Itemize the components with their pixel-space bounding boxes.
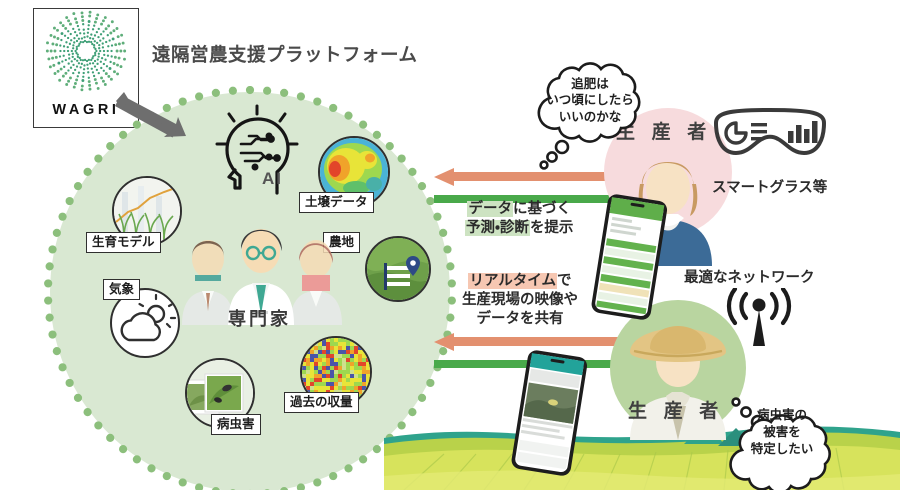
ai-head-icon: AI [205, 100, 309, 208]
thought-b-line3: 特定したい [733, 441, 831, 458]
flow-caption-to-farmer: データに基づく 予測・診断を提示 [465, 200, 573, 238]
thought-a-line2: いつ頃にしたら [537, 92, 643, 108]
caption-tail-1: に基づく [513, 201, 571, 217]
flow-caption-to-platform: リアルタイムで 生産現場の映像や データを共有 [462, 272, 578, 329]
node-growth-model-label: 生育モデル [86, 232, 161, 253]
flow-caption-to-farmer-line2: 予測・診断を提示 [465, 219, 573, 238]
field-map-pin-icon [365, 236, 431, 302]
thought-a-line3: いいのかな [537, 109, 643, 125]
node-pest-disease-label: 病虫害 [211, 414, 261, 435]
smart-glasses-icon [708, 105, 832, 175]
network-label: 最適なネットワーク [684, 266, 815, 287]
node-past-yield-label: 過去の収量 [284, 392, 359, 413]
double-headed-arrow-icon [112, 84, 190, 148]
experts-label: 専門家 [228, 305, 291, 331]
smart-glasses-label: スマートグラス等 [712, 176, 827, 197]
node-soil-data-label: 土壌データ [299, 192, 374, 213]
thought-b-line1: 病虫害の [733, 407, 831, 424]
thought-a-line1: 追肥は [537, 76, 643, 92]
farmer-bottom-thought-text: 病虫害の 被害を 特定したい [733, 407, 831, 458]
svg-text:AI: AI [262, 169, 283, 188]
caption-tail-2: を提示 [530, 220, 574, 236]
thought-b-line2: 被害を [733, 424, 831, 441]
node-weather-label: 気象 [103, 279, 140, 300]
page-title: 遠隔営農支援プラットフォーム [152, 41, 417, 67]
flow-caption-to-farmer-line1: データに基づく [465, 200, 573, 219]
farmer-top-thought-text: 追肥は いつ頃にしたら いいのかな [537, 76, 643, 125]
flow-caption-to-platform-line2: 生産現場の映像や [462, 291, 578, 310]
diagram-canvas: WAGRI 遠隔営農支援プラットフォーム [0, 0, 900, 490]
farmer-bottom-label: 生 産 者 [628, 396, 723, 423]
flow-caption-to-platform-line3: データを共有 [462, 310, 578, 329]
caption-tail-3: で [557, 273, 572, 289]
flow-caption-to-platform-line1: リアルタイムで [462, 272, 578, 291]
